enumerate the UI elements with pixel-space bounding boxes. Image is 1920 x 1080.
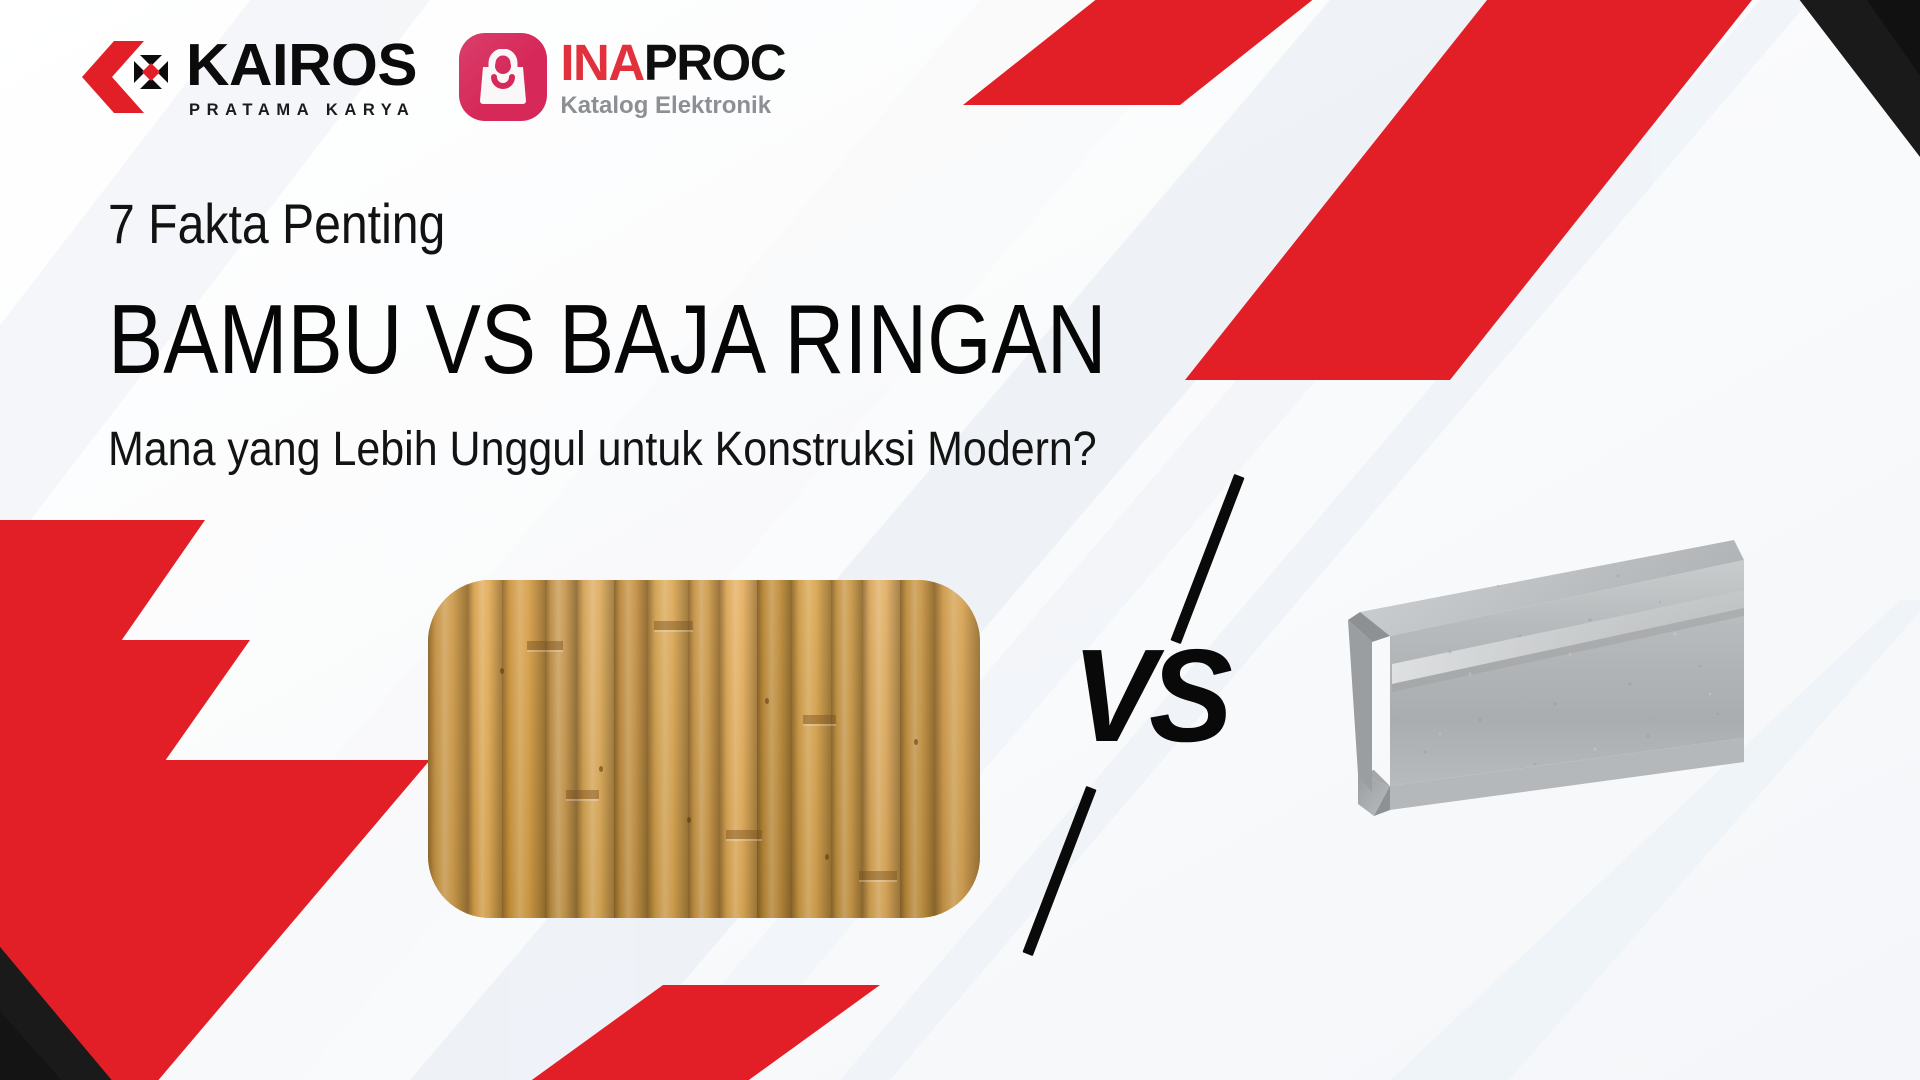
versus-label: VS	[1072, 630, 1226, 762]
lightweight-steel-c-channel-photo	[1330, 524, 1750, 824]
comparison-row: VS	[0, 548, 1920, 968]
kairos-wordmark: KAIROS	[186, 36, 420, 95]
eyebrow-text: 7 Fakta Penting	[108, 196, 1124, 252]
bamboo-image-card	[428, 580, 980, 918]
inaproc-tagline: Katalog Elektronik	[560, 94, 785, 118]
versus-divider: VS	[1020, 470, 1280, 970]
page-subtitle: Mana yang Lebih Unggul untuk Konstruksi …	[108, 426, 1166, 474]
kairos-logo[interactable]: KAIROS PRATAMA KARYA	[78, 33, 415, 121]
headline-block: 7 Fakta Penting BAMBU VS BAJA RINGAN Man…	[108, 196, 1290, 474]
inaproc-wordmark-proc: PROC	[644, 34, 785, 91]
inaproc-logo[interactable]: INAPROC Katalog Elektronik	[459, 33, 785, 121]
kairos-tagline: PRATAMA KARYA	[189, 102, 415, 119]
shopping-bag-icon	[459, 33, 547, 121]
logo-bar: KAIROS PRATAMA KARYA INAPROC Katalog Ele…	[78, 33, 785, 121]
diagonal-slash-icon-top	[1170, 474, 1244, 644]
inaproc-wordmark: INAPROC	[560, 37, 785, 88]
diagonal-slash-icon-bottom	[1022, 786, 1096, 956]
poster-canvas: KAIROS PRATAMA KARYA INAPROC Katalog Ele…	[0, 0, 1920, 1080]
inaproc-wordmark-ina: INA	[560, 34, 643, 91]
kairos-chevron-diamond-icon	[78, 33, 176, 121]
bamboo-poles-photo	[428, 580, 980, 918]
steel-image	[1330, 524, 1750, 824]
page-title: BAMBU VS BAJA RINGAN	[108, 290, 1107, 388]
